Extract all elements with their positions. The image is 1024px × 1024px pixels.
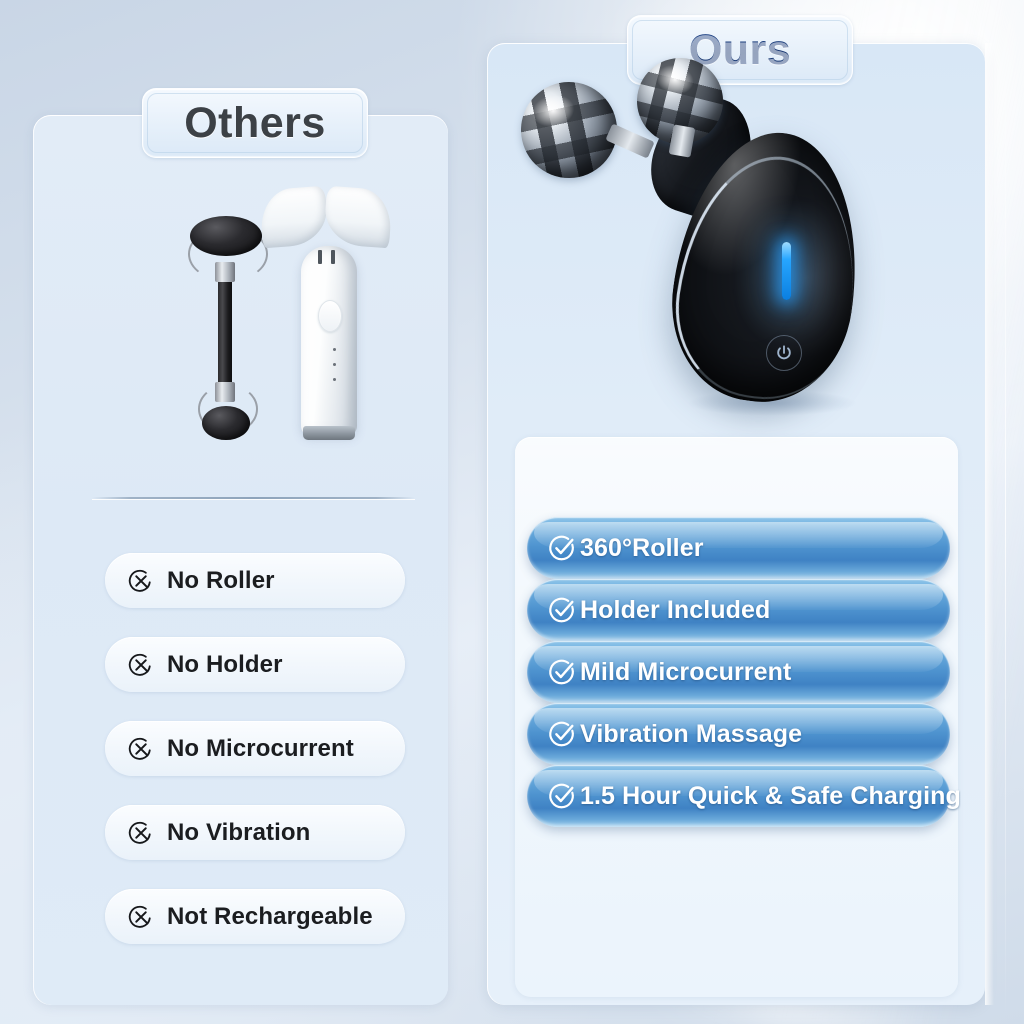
wand-metal-tip [303, 426, 355, 440]
circle-x-icon [127, 735, 155, 763]
ours-feature-item: Vibration Massage [527, 703, 950, 765]
circle-check-icon [547, 595, 577, 625]
circle-check-icon [547, 533, 577, 563]
ours-feature-list: 360°Roller Holder Included Mild Microcur… [527, 517, 950, 827]
feature-label: Vibration Massage [580, 720, 802, 749]
wand-power-button [318, 300, 342, 332]
background-edge-line [1005, 0, 1006, 1024]
wand-notch-right [331, 250, 335, 264]
wand-prong-left [259, 186, 329, 248]
others-feature-item: Not Rechargeable [105, 889, 405, 944]
others-feature-item: No Roller [105, 553, 405, 608]
roller-head-small [202, 406, 250, 440]
others-divider [92, 497, 415, 499]
circle-check-icon [547, 719, 577, 749]
power-icon [766, 335, 802, 371]
jade-face-roller-image [168, 210, 278, 450]
ours-feature-item: Mild Microcurrent [527, 641, 950, 703]
wand-mode-indicators [321, 348, 347, 393]
wand-led-3 [333, 378, 336, 381]
wand-led-1 [333, 348, 336, 351]
circle-check-icon [547, 657, 577, 687]
others-feature-item: No Holder [105, 637, 405, 692]
circle-x-icon [127, 819, 155, 847]
roller-ferrule-bottom [215, 382, 235, 402]
others-feature-item: No Vibration [105, 805, 405, 860]
wand-body [301, 246, 357, 436]
circle-x-icon [127, 903, 155, 931]
others-feature-item: No Microcurrent [105, 721, 405, 776]
circle-x-icon [127, 567, 155, 595]
feature-label: No Roller [167, 567, 275, 595]
feature-label: No Vibration [167, 819, 310, 847]
device-led-indicator [782, 242, 791, 300]
feature-label: 360°Roller [580, 534, 704, 563]
circle-x-icon [127, 651, 155, 679]
comparison-infographic: Others [0, 0, 1024, 1024]
feature-label: No Microcurrent [167, 735, 354, 763]
feature-label: No Holder [167, 651, 283, 679]
feature-label: Not Rechargeable [167, 903, 373, 931]
roller-handle [218, 272, 232, 390]
power-glyph [774, 343, 794, 363]
others-heading-chip: Others [142, 88, 368, 158]
circle-check-icon [547, 781, 577, 811]
roller-ferrule-top [215, 262, 235, 282]
roller-head-large [190, 216, 262, 256]
wand-led-2 [333, 363, 336, 366]
others-heading-label: Others [184, 99, 326, 148]
feature-label: Holder Included [580, 596, 770, 625]
wand-prong-right [323, 186, 393, 248]
neck-massager-wand-image [263, 188, 393, 450]
wand-notch-left [318, 250, 322, 264]
others-product-images [33, 180, 448, 480]
ours-feature-item: 1.5 Hour Quick & Safe Charging [527, 765, 950, 827]
feature-label: 1.5 Hour Quick & Safe Charging [580, 782, 961, 811]
feature-label: Mild Microcurrent [580, 658, 791, 687]
others-feature-list: No Roller No Holder No Microcurrent No V… [105, 553, 405, 944]
ours-feature-item: Holder Included [527, 579, 950, 641]
ours-product-image [487, 60, 985, 440]
ours-feature-item: 360°Roller [527, 517, 950, 579]
